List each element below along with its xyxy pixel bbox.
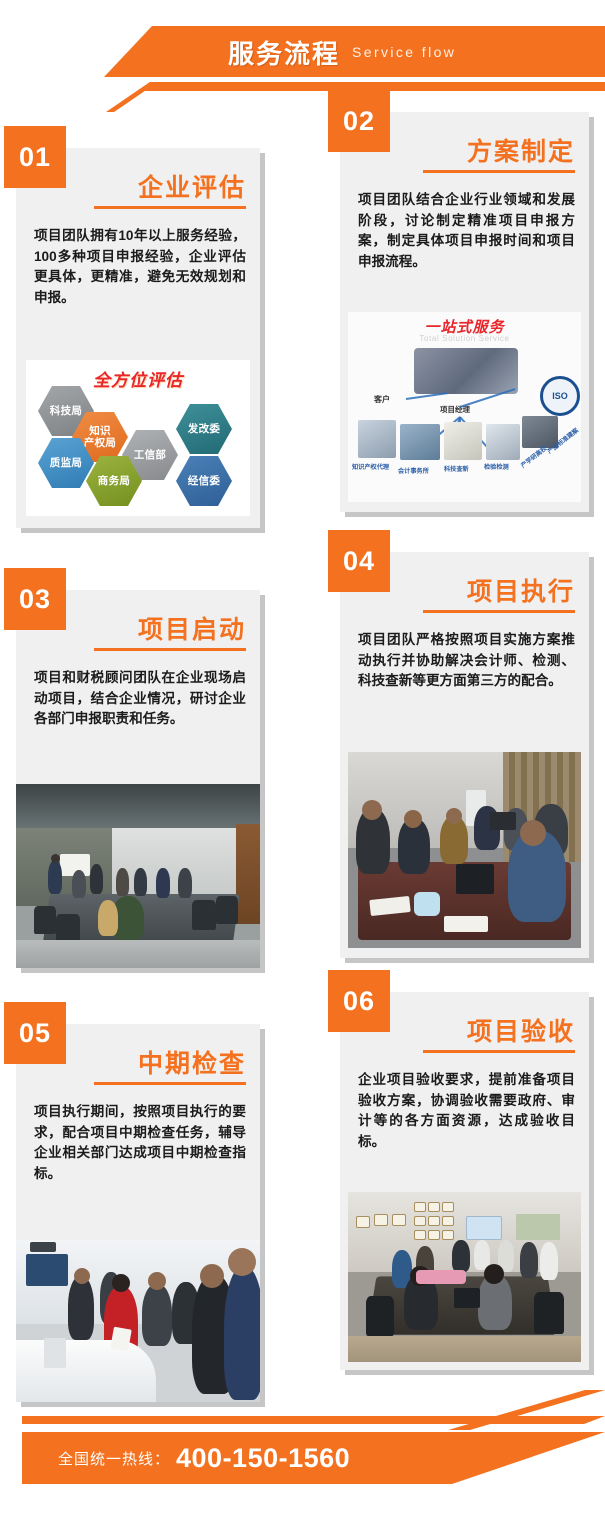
step-title: 项目执行 bbox=[467, 572, 575, 608]
step-title: 项目启动 bbox=[138, 610, 246, 646]
step-number-badge: 03 bbox=[4, 568, 66, 630]
photo-chair bbox=[216, 896, 238, 924]
oss-service-label: 会计事务所 bbox=[398, 466, 429, 475]
footer-stripe bbox=[22, 1416, 605, 1424]
step-number-badge: 02 bbox=[328, 90, 390, 152]
step-card-06[interactable]: 06 项目验收 企业项目验收要求，提前准备项目验收方案，协调验收需要政府、审计等… bbox=[340, 992, 589, 1370]
photo-person bbox=[134, 868, 147, 896]
photo-chair bbox=[534, 1292, 564, 1334]
step-description: 项目团队严格按照项目实施方案推动执行并协助解决会计师、检测、科技查新等更方面第三… bbox=[358, 630, 575, 692]
photo-person-head bbox=[228, 1248, 256, 1276]
photo-product-display bbox=[44, 1338, 66, 1368]
photo-chair bbox=[366, 1296, 394, 1336]
photo-person-head bbox=[362, 800, 382, 820]
step-card-03[interactable]: 03 项目启动 项目和财税顾问团队在企业现场启动项目，结合企业情况，研讨企业各部… bbox=[16, 590, 260, 968]
step-title: 企业评估 bbox=[138, 168, 246, 204]
hexagon-node-label: 科技局 bbox=[50, 405, 82, 417]
figure-hexagon-assessment: 全方位评估 科技局 知识产权局 质监局 工信部 商务局 发改委 经信委 bbox=[26, 360, 250, 516]
step-description: 项目团队拥有10年以上服务经验，100多种项目申报经验，企业评估更具体，更精准，… bbox=[34, 226, 246, 309]
photo-person bbox=[116, 868, 129, 896]
photo-certificate bbox=[428, 1216, 440, 1226]
step-description: 企业项目验收要求，提前准备项目验收方案，协调验收需要政府、审计等的各方面资源，达… bbox=[358, 1070, 575, 1153]
hexagon-node-jingxin: 经信委 bbox=[176, 456, 232, 506]
oss-label-customer: 客户 bbox=[374, 394, 390, 405]
hexagon-node-label: 经信委 bbox=[188, 475, 220, 487]
oss-node-accounting bbox=[400, 424, 440, 460]
hexagon-node-label: 知识产权局 bbox=[84, 425, 116, 449]
step-title: 方案制定 bbox=[467, 132, 575, 168]
photo-laptop bbox=[456, 864, 494, 894]
title-underline bbox=[94, 206, 246, 209]
step-card-04[interactable]: 04 项目执行 项目团队严格按照项目实施方案推动执行并协助解决会计师、检测、科技… bbox=[340, 552, 589, 958]
photo-person bbox=[98, 900, 118, 936]
photo-certificate bbox=[442, 1202, 454, 1212]
step-card-05[interactable]: 05 中期检查 项目执行期间，按照项目执行的要求，配合项目中期检查任务，辅导企业… bbox=[16, 1024, 260, 1402]
photo-certificate bbox=[356, 1216, 370, 1228]
step-description: 项目团队结合企业行业领域和发展阶段，讨论制定精准项目申报方案，制定具体项目申报时… bbox=[358, 190, 575, 273]
photo-laptop bbox=[454, 1288, 480, 1308]
photo-person-head bbox=[404, 810, 422, 828]
photo-person-head bbox=[74, 1268, 90, 1284]
hotline-number[interactable]: 400-150-1560 bbox=[176, 1443, 350, 1474]
photo-person bbox=[68, 1276, 94, 1340]
photo-certificate bbox=[374, 1214, 388, 1226]
hexagon-node-fagai: 发改委 bbox=[176, 404, 232, 454]
photo-chair bbox=[192, 900, 216, 930]
step-card-02[interactable]: 02 方案制定 项目团队结合企业行业领域和发展阶段，讨论制定精准项目申报方案，制… bbox=[340, 112, 589, 512]
hotline-label: 全国统一热线： bbox=[58, 1448, 170, 1469]
oss-node-inspection bbox=[486, 424, 520, 460]
photo-person-head bbox=[51, 854, 60, 863]
step-description: 项目和财税顾问团队在企业现场启动项目，结合企业情况，研讨企业各部门申报职责和任务… bbox=[34, 668, 246, 730]
oss-hub-image bbox=[414, 348, 518, 394]
service-flow-infographic: 服务流程 Service flow 01 企业评估 项目团队拥有10年以上服务经… bbox=[0, 0, 605, 1538]
photo-display-screen bbox=[26, 1254, 68, 1286]
oss-seal-label: ISO bbox=[552, 391, 568, 401]
photo-floor bbox=[16, 940, 260, 968]
photo-flowers bbox=[416, 1270, 466, 1284]
hexagon-node-label: 工信部 bbox=[134, 449, 166, 461]
photo-person bbox=[520, 1242, 538, 1278]
step-title: 中期检查 bbox=[138, 1044, 246, 1080]
oss-node-tech-search bbox=[444, 422, 482, 460]
photo-person bbox=[540, 1242, 558, 1280]
oss-service-label: 知识产权代理 bbox=[352, 462, 389, 471]
photo-person bbox=[452, 1240, 470, 1272]
step-number-badge: 01 bbox=[4, 126, 66, 188]
figure-photo-acceptance-meeting bbox=[348, 1192, 581, 1362]
hexagon-node-label: 发改委 bbox=[188, 423, 220, 435]
photo-projector-screen bbox=[466, 1216, 502, 1240]
photo-person-head bbox=[446, 808, 462, 824]
title-underline bbox=[423, 170, 575, 173]
header-title-group: 服务流程 Service flow bbox=[228, 30, 456, 74]
photo-person-foreground bbox=[224, 1266, 260, 1400]
photo-papers bbox=[110, 1327, 132, 1352]
step-description: 项目执行期间，按照项目执行的要求，配合项目中期检查任务，辅导企业相关部门达成项目… bbox=[34, 1102, 246, 1185]
photo-chair bbox=[34, 906, 56, 934]
photo-green-board bbox=[516, 1214, 560, 1240]
oss-figure-subtitle: Total Solution Service bbox=[419, 334, 509, 343]
photo-person bbox=[72, 870, 86, 898]
photo-person-head bbox=[148, 1272, 166, 1290]
figure-one-stop-service: 一站式服务 Total Solution Service 客户 项目经理 ISO… bbox=[348, 312, 581, 502]
photo-display-screen bbox=[30, 1242, 56, 1252]
photo-certificate bbox=[414, 1202, 426, 1212]
step-number-badge: 04 bbox=[328, 530, 390, 592]
page-title: 服务流程 bbox=[228, 34, 340, 71]
step-title: 项目验收 bbox=[467, 1012, 575, 1048]
oss-node-ip-agency bbox=[358, 420, 396, 458]
photo-certificate bbox=[392, 1214, 406, 1226]
title-underline bbox=[94, 648, 246, 651]
photo-person-head bbox=[520, 820, 546, 846]
photo-ceiling bbox=[16, 784, 260, 832]
oss-certification-seal: ISO bbox=[540, 376, 580, 416]
photo-certificate bbox=[428, 1230, 440, 1240]
title-underline bbox=[423, 1050, 575, 1053]
photo-person bbox=[178, 868, 192, 898]
photo-certificate bbox=[442, 1230, 454, 1240]
photo-wood-panel bbox=[236, 824, 260, 924]
step-number-badge: 05 bbox=[4, 1002, 66, 1064]
photo-person bbox=[142, 1284, 172, 1346]
photo-person bbox=[90, 864, 103, 894]
photo-person bbox=[156, 868, 170, 898]
photo-person bbox=[48, 860, 62, 894]
photo-certificate bbox=[428, 1202, 440, 1212]
oss-service-label: 检验检测 bbox=[484, 462, 509, 471]
step-card-01[interactable]: 01 企业评估 项目团队拥有10年以上服务经验，100多种项目申报经验，企业评估… bbox=[16, 148, 260, 528]
page-subtitle: Service flow bbox=[352, 44, 456, 60]
photo-laptop bbox=[490, 812, 516, 830]
title-underline bbox=[94, 1082, 246, 1085]
hexagon-figure-title: 全方位评估 bbox=[93, 366, 183, 391]
photo-person-head bbox=[484, 1264, 504, 1284]
photo-floor bbox=[348, 1336, 581, 1362]
photo-certificate bbox=[414, 1230, 426, 1240]
photo-certificate bbox=[414, 1216, 426, 1226]
figure-photo-team-working bbox=[348, 752, 581, 948]
footer-stripe-diagonal bbox=[430, 1390, 605, 1430]
step-number-badge: 06 bbox=[328, 970, 390, 1032]
figure-photo-conference-kickoff bbox=[16, 784, 260, 968]
figure-photo-site-visit bbox=[16, 1240, 260, 1402]
title-underline bbox=[423, 610, 575, 613]
photo-certificate bbox=[442, 1216, 454, 1226]
hexagon-node-label: 质监局 bbox=[50, 457, 82, 469]
photo-bag bbox=[414, 892, 440, 916]
hexagon-node-label: 商务局 bbox=[98, 475, 130, 487]
page-header: 服务流程 Service flow bbox=[0, 0, 605, 112]
photo-person-head bbox=[112, 1274, 130, 1292]
oss-service-label: 科技查新 bbox=[444, 464, 469, 473]
photo-papers bbox=[444, 916, 488, 932]
photo-counter bbox=[16, 1340, 156, 1402]
footer-hotline-group: 全国统一热线： 400-150-1560 bbox=[58, 1432, 350, 1484]
photo-person-head bbox=[200, 1264, 224, 1288]
